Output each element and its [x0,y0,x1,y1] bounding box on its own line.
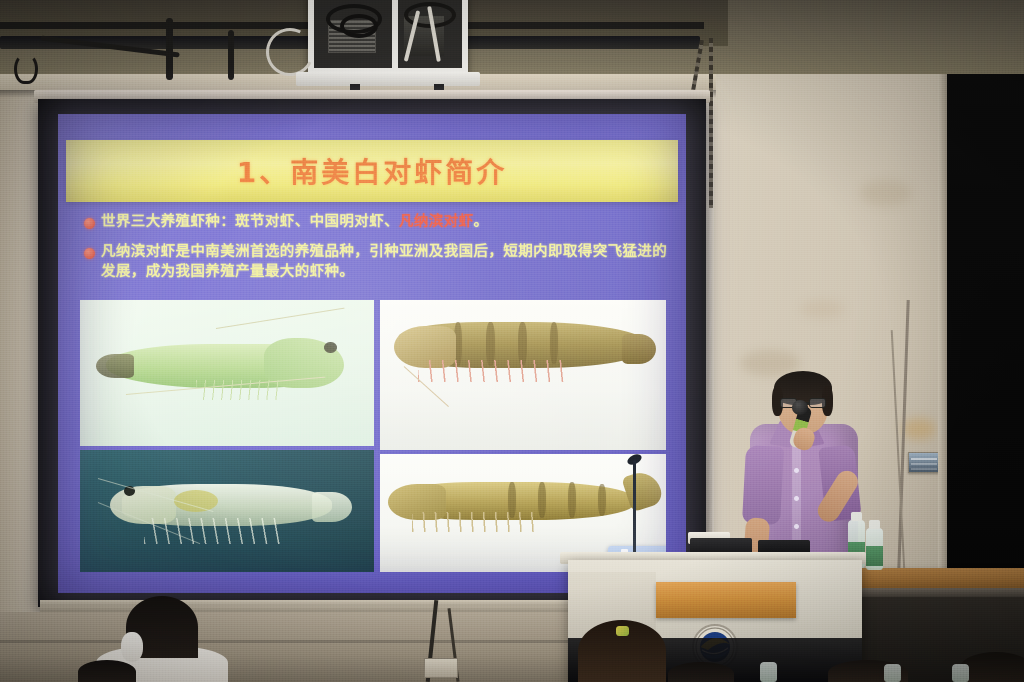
shrimp-tail [312,492,352,522]
slide-title-banner: 1、南美白对虾简介 [66,140,678,202]
shrimp-tail [622,334,656,364]
shrimp-legs [418,360,568,382]
cable-hook-icon [14,54,38,84]
slide-bullet-list: 世界三大养殖虾种：斑节对虾、中国明对虾、凡纳滨对虾。 凡纳滨对虾是中南美洲首选的… [84,212,668,292]
projector-mount-base [296,72,480,86]
side-table-edge [846,588,1024,597]
bullet-highlight: 凡纳滨对虾 [399,214,474,230]
shrimp-stripe [598,484,606,516]
microphone-stand [633,460,636,556]
shrimp-legs [196,380,282,400]
conduit-pipe-vertical [166,18,173,80]
wall-notice-card [908,452,939,473]
shirt-button [794,524,799,529]
lecture-room-photo: 1、南美白对虾简介 世界三大养殖虾种：斑节对虾、中国明对虾、凡纳滨对虾。 凡纳滨… [0,0,1024,682]
bullet-dot-icon [84,218,95,229]
audience-head-2 [78,660,136,682]
podium-wood-panel [656,582,796,618]
shrimp-photo-bottom-left [80,450,374,572]
audience-head-4 [668,662,734,682]
wall-stain-3 [800,300,844,318]
projected-slide: 1、南美白对虾简介 世界三大养殖虾种：斑节对虾、中国明对虾、凡纳滨对虾。 凡纳滨… [58,114,686,593]
cage-divider [392,0,398,68]
projector-cage [308,0,468,74]
conduit-pipe-right [228,30,234,80]
presenter-sleeve-left [742,445,784,525]
microphone-head-icon [792,400,808,415]
shrimp-photo-top-left [80,300,374,446]
shrimp-antenna-2 [216,308,345,329]
bottle-cap [869,520,880,529]
shrimp-legs [412,512,542,532]
shrimp-stripe [550,322,558,364]
wall-socket [424,658,458,678]
coiled-cable-icon-2 [340,14,378,38]
shirt-button [794,496,799,501]
wall-seam [0,640,570,643]
audience-bottle-3 [952,664,969,682]
shrimp-eye [324,342,337,353]
audience-bottle-1 [760,662,777,682]
wall-stain-1 [902,418,936,440]
glasses-lens-right [809,398,826,408]
bullet-dot-icon [84,248,95,259]
slide-title: 1、南美白对虾简介 [66,140,678,202]
face-mask [121,632,143,662]
bullet-item: 凡纳滨对虾是中南美洲首选的养殖品种，引种亚洲及我国后，短期内即取得突飞猛进的发展… [84,242,668,283]
wall-stain-4 [860,180,912,206]
bullet-text-2: 凡纳滨对虾是中南美洲首选的养殖品种，引种亚洲及我国后，短期内即取得突飞猛进的发展… [101,242,668,283]
audience-bottle-2 [884,664,901,682]
shirt-button [794,468,799,473]
audience-head-6 [960,652,1024,682]
bullet-item: 世界三大养殖虾种：斑节对虾、中国明对虾、凡纳滨对虾。 [84,212,668,233]
shrimp-photo-top-right [380,300,666,450]
side-table [846,568,1024,590]
screen-chain [709,38,713,208]
slide-photo-grid: 打开 U 盘 共 可用 8.12G [80,300,666,572]
bottle-cap [851,512,862,521]
bottle-label [866,546,883,566]
water-bottle-2 [866,528,883,570]
hair-clip [616,626,629,636]
shrimp-stripe [568,482,576,518]
shrimp-legs [144,518,284,544]
shrimp-tail [96,354,134,378]
bullet-text-1: 世界三大养殖虾种：斑节对虾、中国明对虾、凡纳滨对虾。 [101,212,488,233]
